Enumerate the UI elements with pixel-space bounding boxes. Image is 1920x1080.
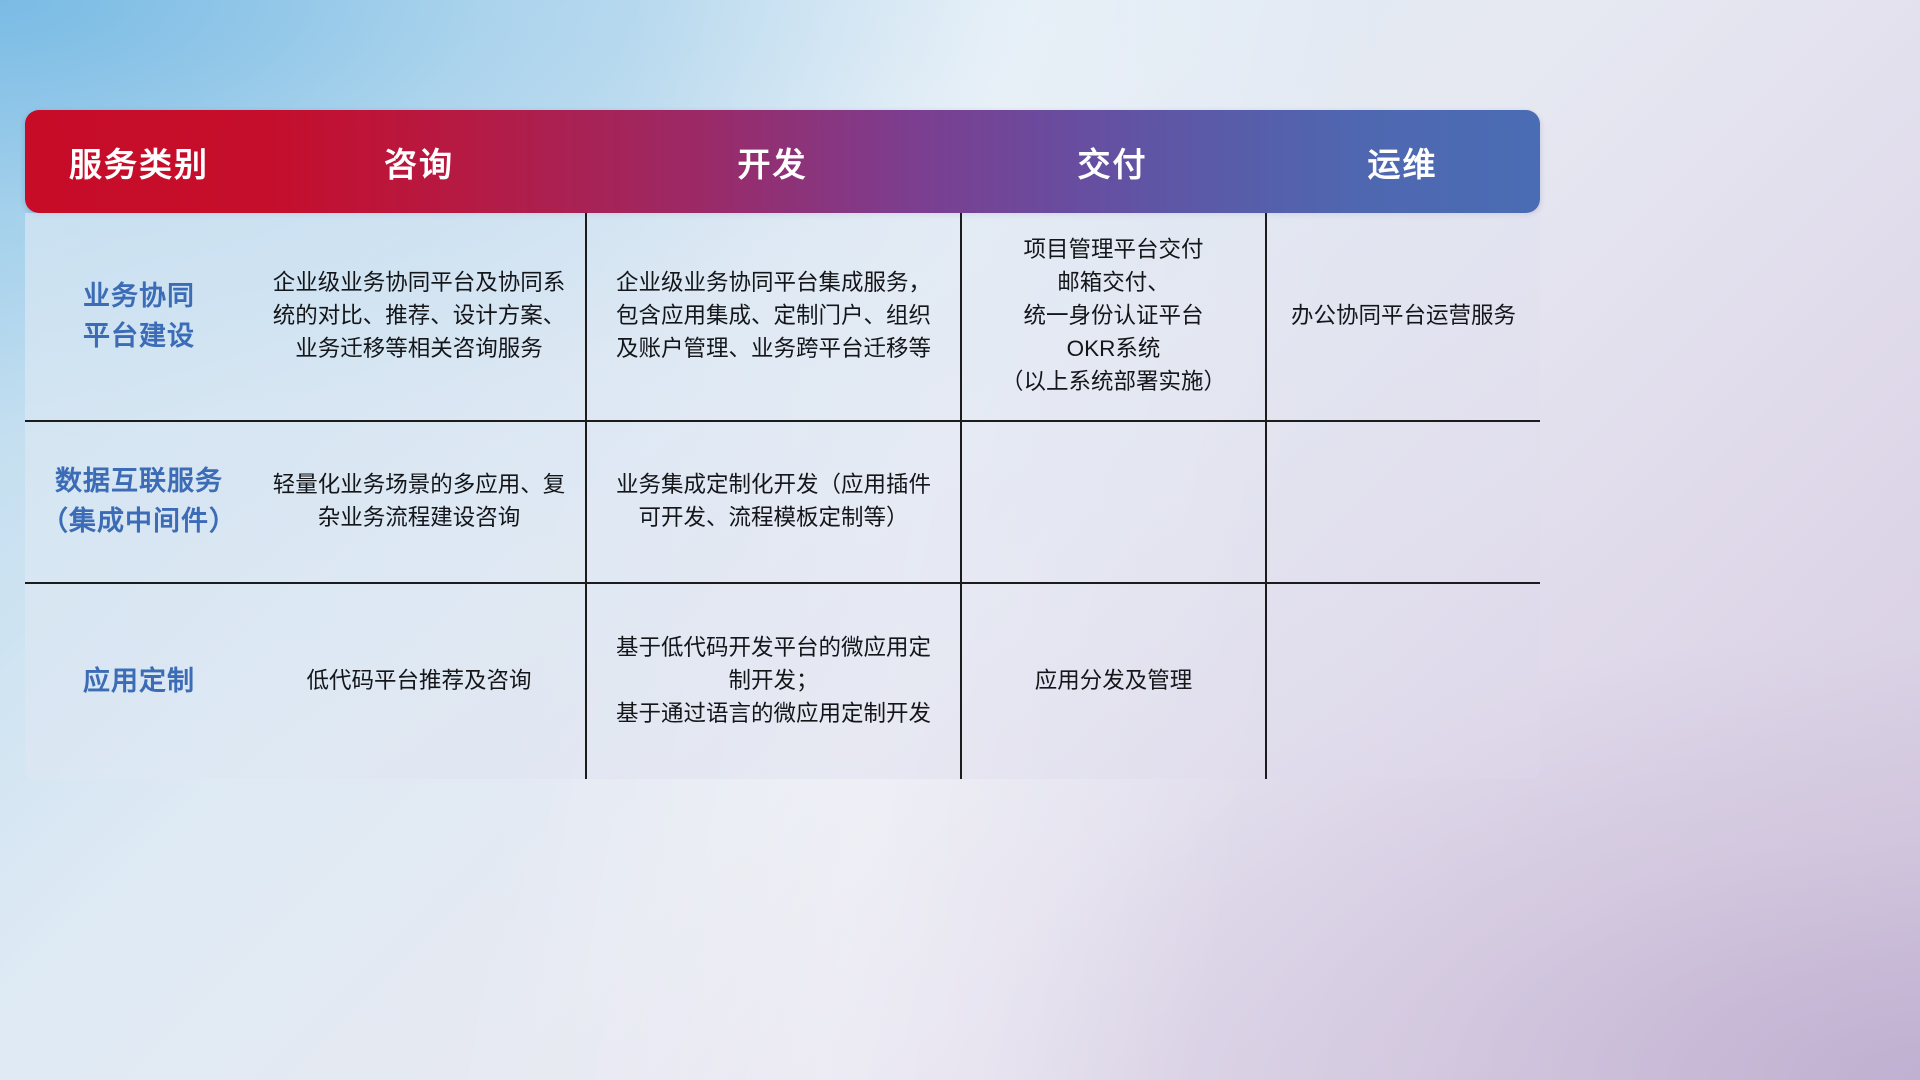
service-matrix-table: 服务类别 咨询 开发 交付 运维 业务协同 平台建设 企业级业务协同平台及协同系… <box>25 110 1540 779</box>
cell-consulting-row-3: 低代码平台推荐及咨询 <box>253 584 585 779</box>
cell-development-row-1: 企业级业务协同平台集成服务， 包含应用集成、定制门户、组织 及账户管理、业务跨平… <box>585 213 960 420</box>
table-row: 数据互联服务 （集成中间件） 轻量化业务场景的多应用、复 杂业务流程建设咨询 业… <box>25 420 1540 582</box>
column-header-operations: 运维 <box>1265 110 1540 213</box>
cell-delivery-row-2 <box>960 422 1265 582</box>
cell-development-row-2: 业务集成定制化开发（应用插件 可开发、流程模板定制等） <box>585 422 960 582</box>
row-label-application-customization: 应用定制 <box>25 584 253 779</box>
cell-operations-row-3 <box>1265 584 1540 779</box>
cell-consulting-row-1: 企业级业务协同平台及协同系 统的对比、推荐、设计方案、 业务迁移等相关咨询服务 <box>253 213 585 420</box>
cell-operations-row-2 <box>1265 422 1540 582</box>
table-row: 应用定制 低代码平台推荐及咨询 基于低代码开发平台的微应用定 制开发； 基于通过… <box>25 582 1540 779</box>
cell-operations-row-1: 办公协同平台运营服务 <box>1265 213 1540 420</box>
table-body: 业务协同 平台建设 企业级业务协同平台及协同系 统的对比、推荐、设计方案、 业务… <box>25 213 1540 779</box>
table-header-row: 服务类别 咨询 开发 交付 运维 <box>25 110 1540 213</box>
cell-delivery-row-1: 项目管理平台交付 邮箱交付、 统一身份认证平台 OKR系统 （以上系统部署实施） <box>960 213 1265 420</box>
column-header-category: 服务类别 <box>25 110 253 213</box>
column-header-development: 开发 <box>585 110 960 213</box>
cell-consulting-row-2: 轻量化业务场景的多应用、复 杂业务流程建设咨询 <box>253 422 585 582</box>
cell-development-row-3: 基于低代码开发平台的微应用定 制开发； 基于通过语言的微应用定制开发 <box>585 584 960 779</box>
column-header-delivery: 交付 <box>960 110 1265 213</box>
column-header-consulting: 咨询 <box>253 110 585 213</box>
cell-delivery-row-3: 应用分发及管理 <box>960 584 1265 779</box>
table-row: 业务协同 平台建设 企业级业务协同平台及协同系 统的对比、推荐、设计方案、 业务… <box>25 213 1540 420</box>
row-label-business-collaboration: 业务协同 平台建设 <box>25 213 253 420</box>
row-label-data-interconnection: 数据互联服务 （集成中间件） <box>25 422 253 582</box>
